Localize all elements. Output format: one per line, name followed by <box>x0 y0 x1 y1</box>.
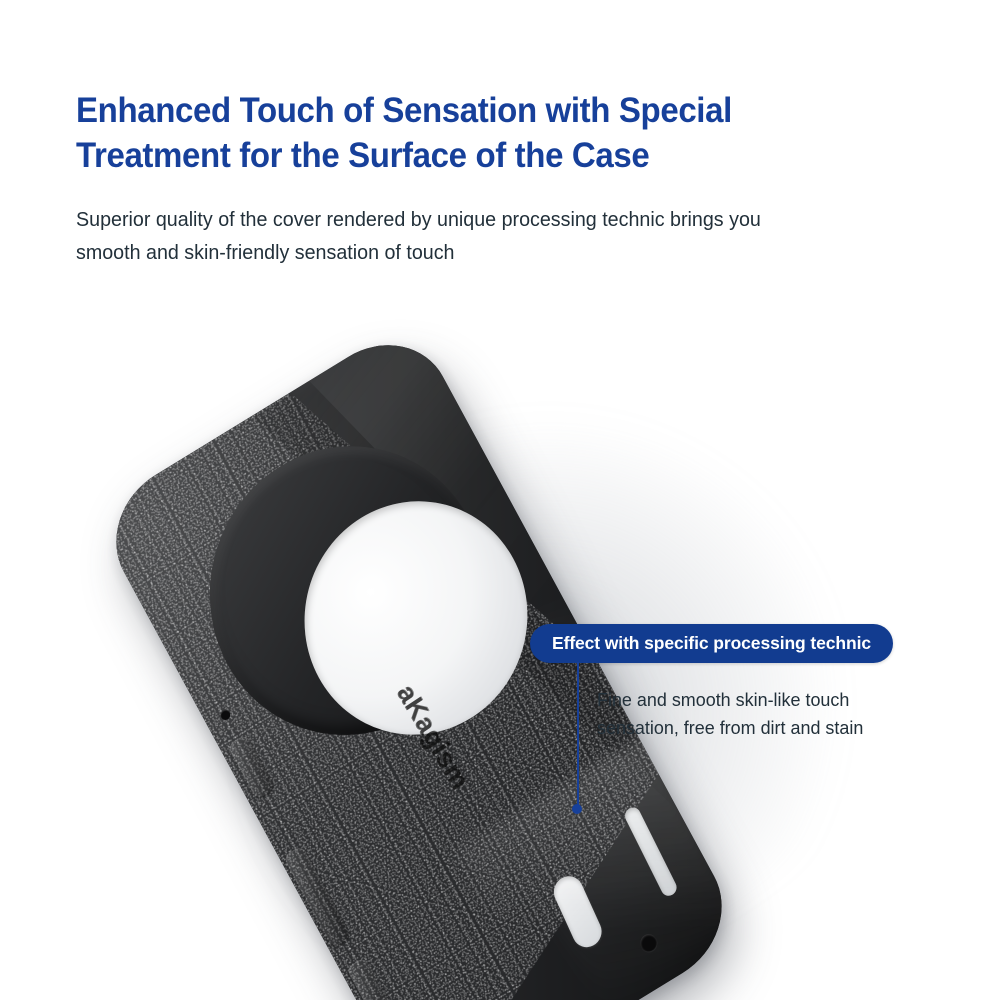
product-feature-page: Enhanced Touch of Sensation with Special… <box>0 0 1000 1000</box>
page-title: Enhanced Touch of Sensation with Special… <box>76 88 857 178</box>
callout-leader-line-positive <box>577 662 579 810</box>
callout-leader-endpoint-positive <box>572 804 582 814</box>
callout-badge-positive: Effect with specific processing technic <box>530 624 893 663</box>
callout-description-positive: Fine and smooth skin-like touch sensatio… <box>597 686 898 742</box>
product-image-stage: aKagism Effect with specific processing … <box>0 290 1000 970</box>
page-subtitle: Superior quality of the cover rendered b… <box>76 203 873 269</box>
